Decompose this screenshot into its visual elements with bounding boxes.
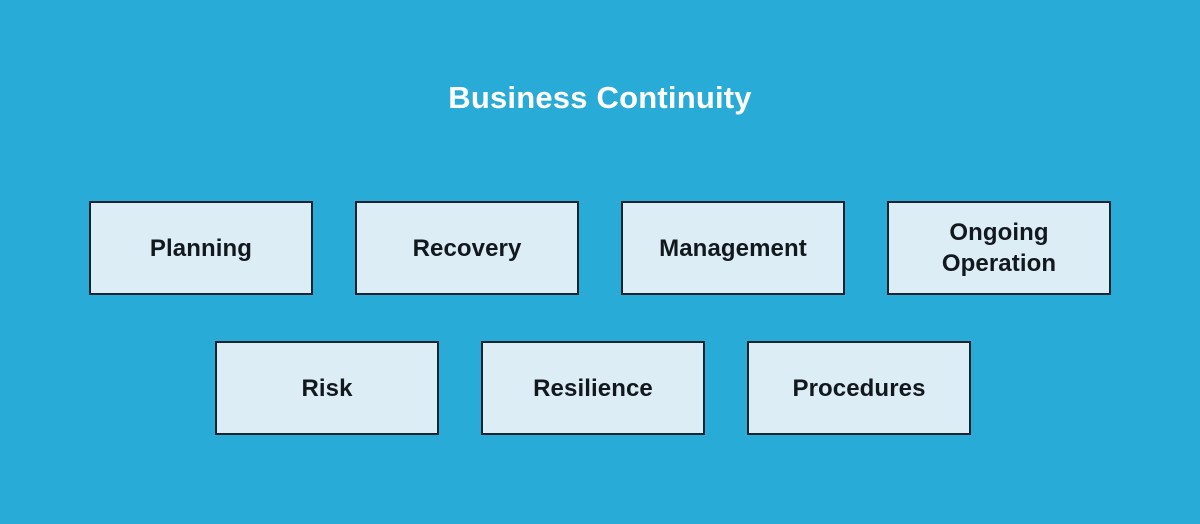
node-procedures[interactable]: Procedures <box>747 341 971 435</box>
node-row-bottom: Risk Resilience Procedures <box>215 341 971 435</box>
node-procedures-label: Procedures <box>784 373 933 404</box>
business-continuity-diagram: Business Continuity Planning Recovery Ma… <box>0 0 1200 524</box>
node-resilience-label: Resilience <box>525 373 661 404</box>
node-recovery[interactable]: Recovery <box>355 201 579 295</box>
node-management[interactable]: Management <box>621 201 845 295</box>
node-risk-label: Risk <box>293 373 360 404</box>
node-management-label: Management <box>651 233 815 264</box>
node-planning[interactable]: Planning <box>89 201 313 295</box>
node-recovery-label: Recovery <box>405 233 530 264</box>
node-ongoing-operation[interactable]: Ongoing Operation <box>887 201 1111 295</box>
node-row-top: Planning Recovery Management Ongoing Ope… <box>89 201 1111 295</box>
node-risk[interactable]: Risk <box>215 341 439 435</box>
node-planning-label: Planning <box>142 233 260 264</box>
diagram-title: Business Continuity <box>0 78 1200 118</box>
node-ongoing-operation-label: Ongoing Operation <box>934 217 1064 279</box>
node-resilience[interactable]: Resilience <box>481 341 705 435</box>
